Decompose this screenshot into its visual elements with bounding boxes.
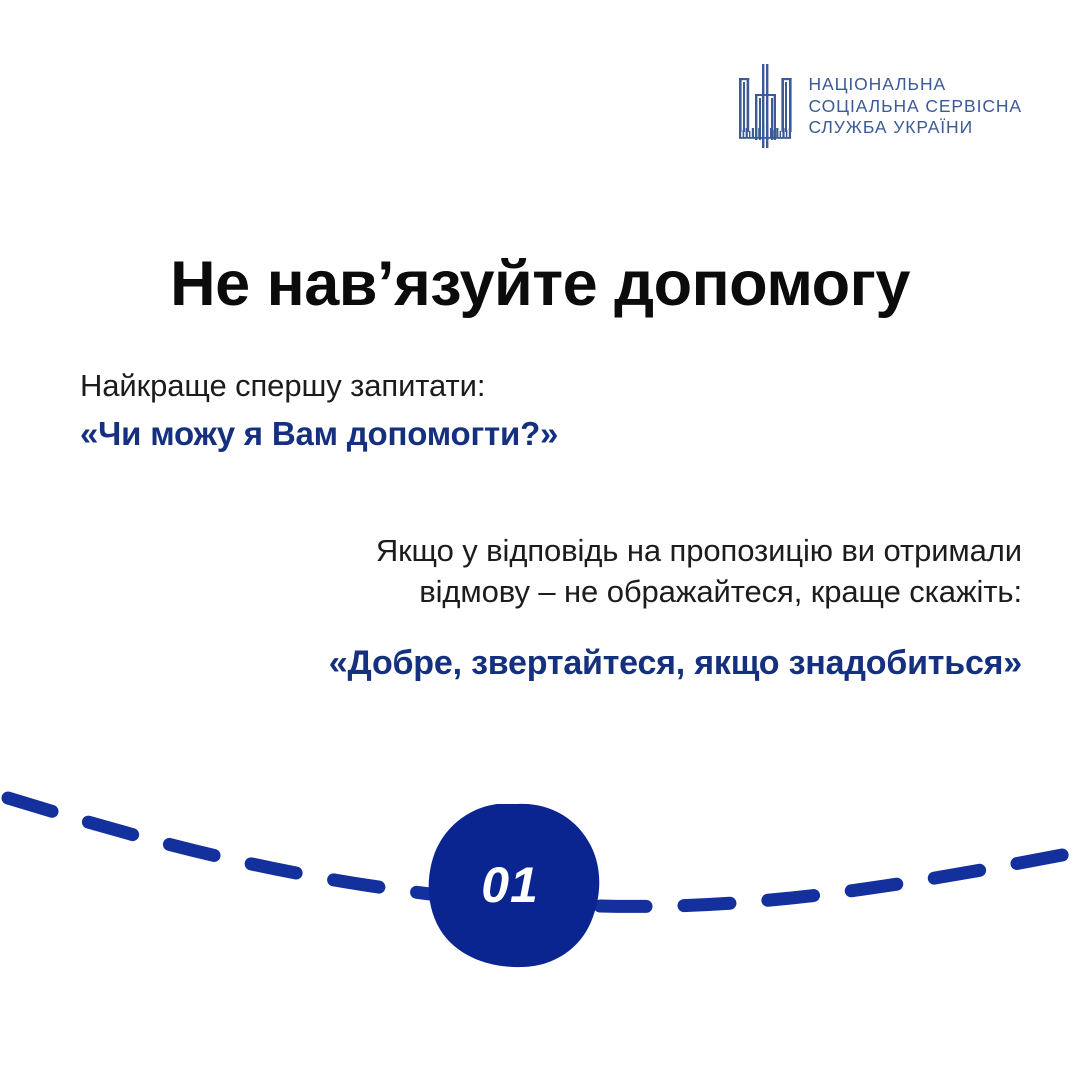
page-title: Не нав’язуйте допомогу xyxy=(0,251,1080,317)
step-badge-number: 01 xyxy=(427,802,603,968)
advice-quote-secondary: «Добре, звертайтеся, якщо знадобиться» xyxy=(180,641,1022,685)
brand-logo: НАЦІОНАЛЬНА СОЦІАЛЬНА СЕРВІСНА СЛУЖБА УК… xyxy=(736,64,1022,148)
brand-name-line-1: НАЦІОНАЛЬНА xyxy=(808,75,1022,94)
advice-block-secondary: Якщо у відповідь на пропозицію ви отрима… xyxy=(180,530,1022,686)
advice-lead-line-2: відмову – не ображайтеся, краще скажіть: xyxy=(180,571,1022,612)
advice-block-primary: Найкраще спершу запитати: «Чи можу я Вам… xyxy=(80,366,800,456)
bottom-decoration: 01 xyxy=(0,760,1080,1080)
brand-name-line-2: СОЦІАЛЬНА СЕРВІСНА xyxy=(808,97,1022,116)
advice-lead-line-1: Якщо у відповідь на пропозицію ви отрима… xyxy=(180,530,1022,571)
advice-quote-text: «Чи можу я Вам допомогти?» xyxy=(80,413,800,456)
step-badge: 01 xyxy=(427,802,603,968)
slide-canvas: НАЦІОНАЛЬНА СОЦІАЛЬНА СЕРВІСНА СЛУЖБА УК… xyxy=(0,0,1080,1080)
trident-bars-logo-icon xyxy=(736,64,794,148)
brand-name: НАЦІОНАЛЬНА СОЦІАЛЬНА СЕРВІСНА СЛУЖБА УК… xyxy=(808,75,1022,138)
brand-name-line-3: СЛУЖБА УКРАЇНИ xyxy=(808,118,1022,137)
advice-lead-text: Найкраще спершу запитати: xyxy=(80,366,800,406)
